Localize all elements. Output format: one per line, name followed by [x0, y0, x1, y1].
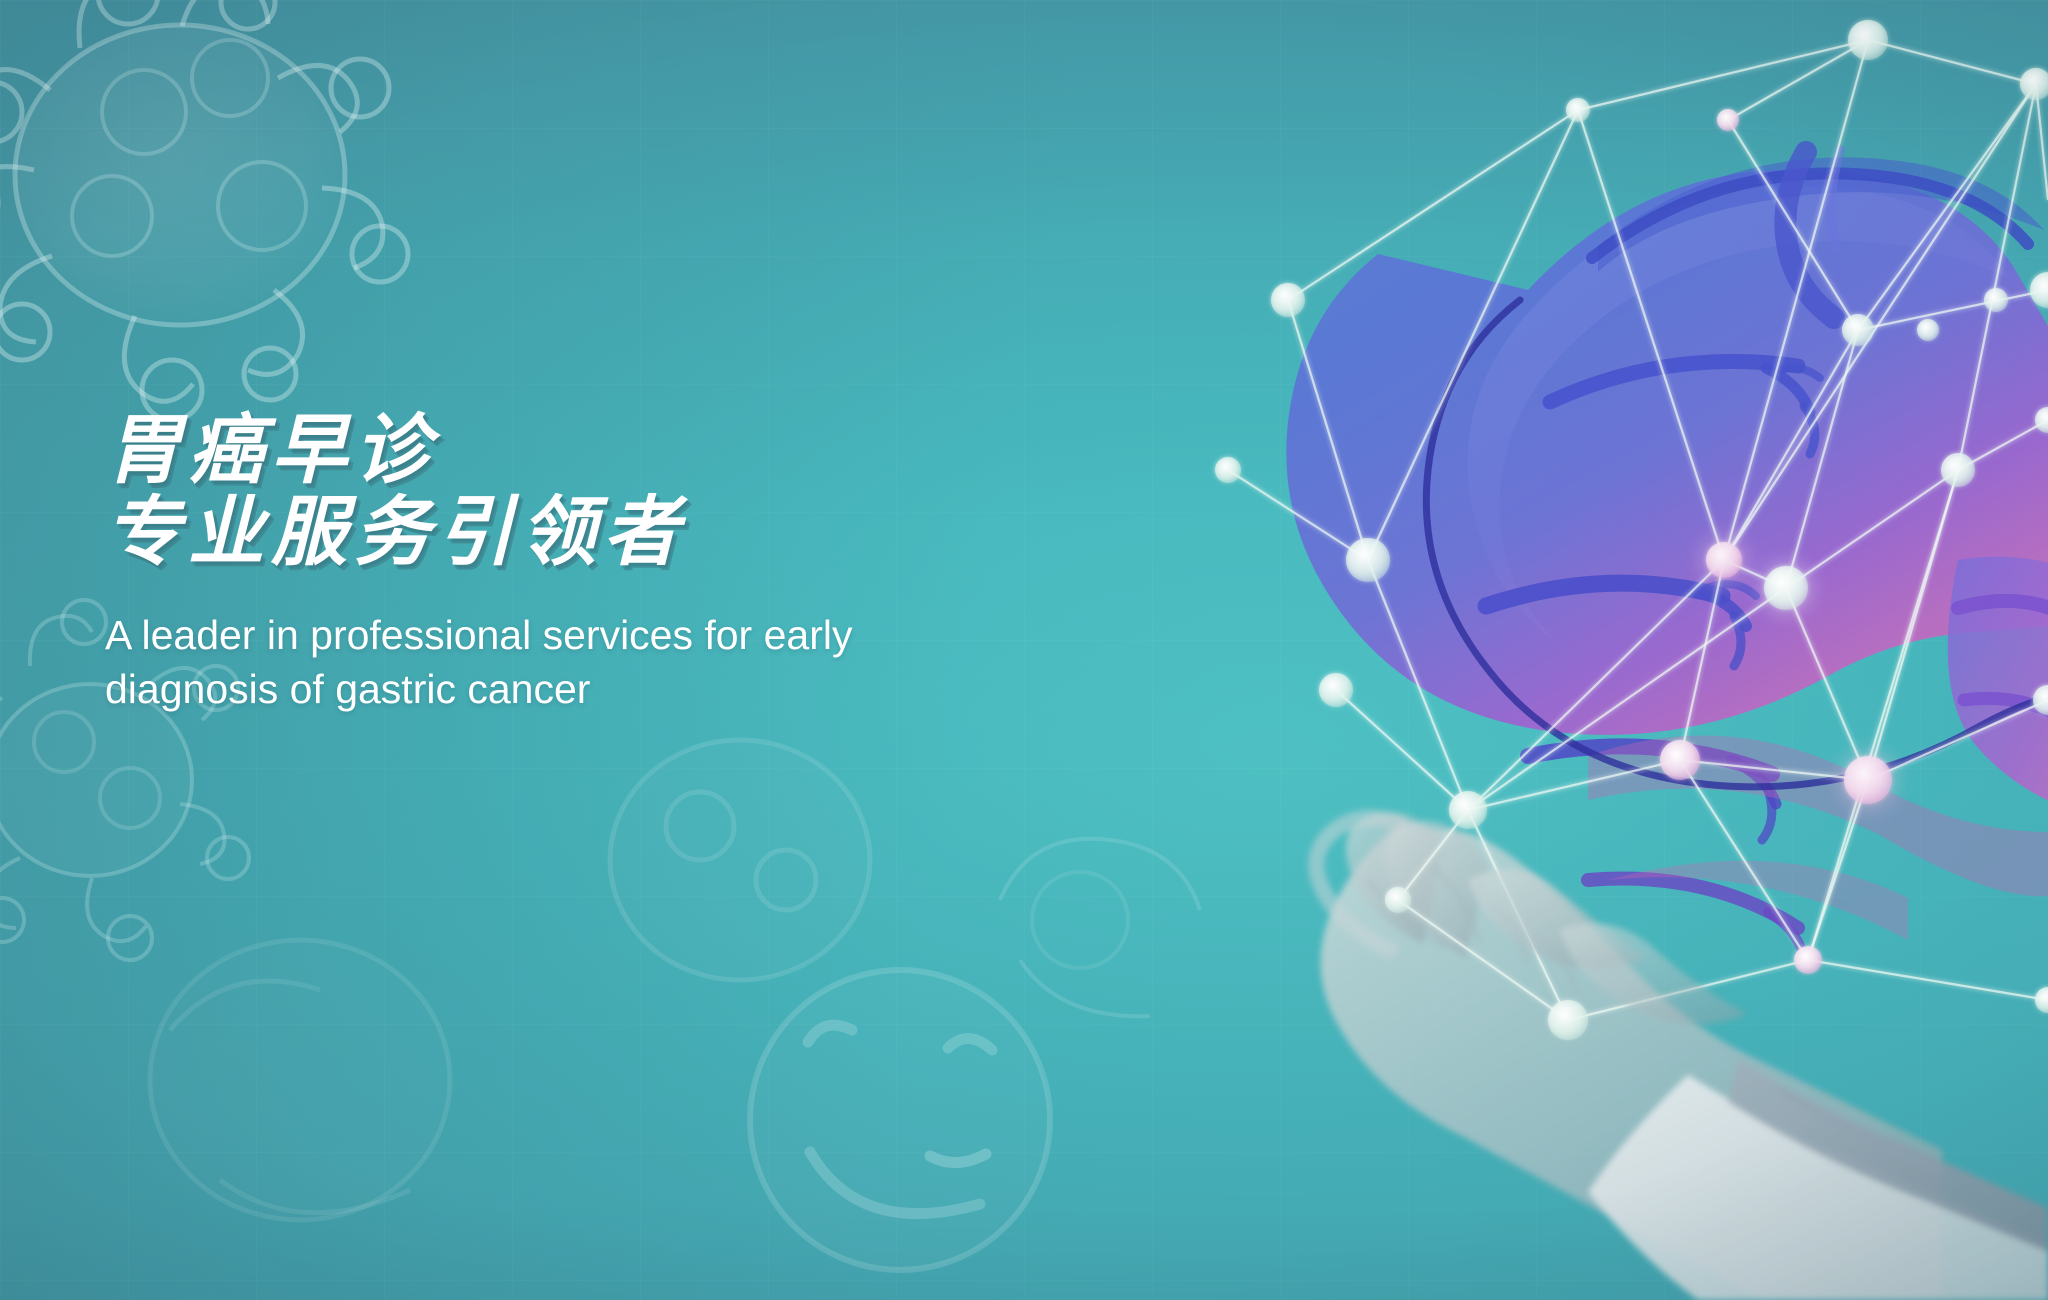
hero-subtitle: A leader in professional services for ea… [105, 608, 935, 716]
hero-copy: 胃癌早诊 专业服务引领者 A leader in professional se… [105, 410, 1105, 716]
illustration-svg [1168, 0, 2048, 1300]
cell-watermark-bottomleft [100, 880, 520, 1300]
virus-watermark-topleft [0, 0, 450, 440]
headline-line-2: 专业服务引领者 [105, 492, 1105, 574]
cell-watermark-mid [560, 700, 940, 1040]
stomach-hand-illustration [1168, 0, 2048, 1300]
headline-line-1: 胃癌早诊 [105, 410, 1105, 492]
hero-banner: 胃癌早诊 专业服务引领者 A leader in professional se… [0, 0, 2048, 1300]
